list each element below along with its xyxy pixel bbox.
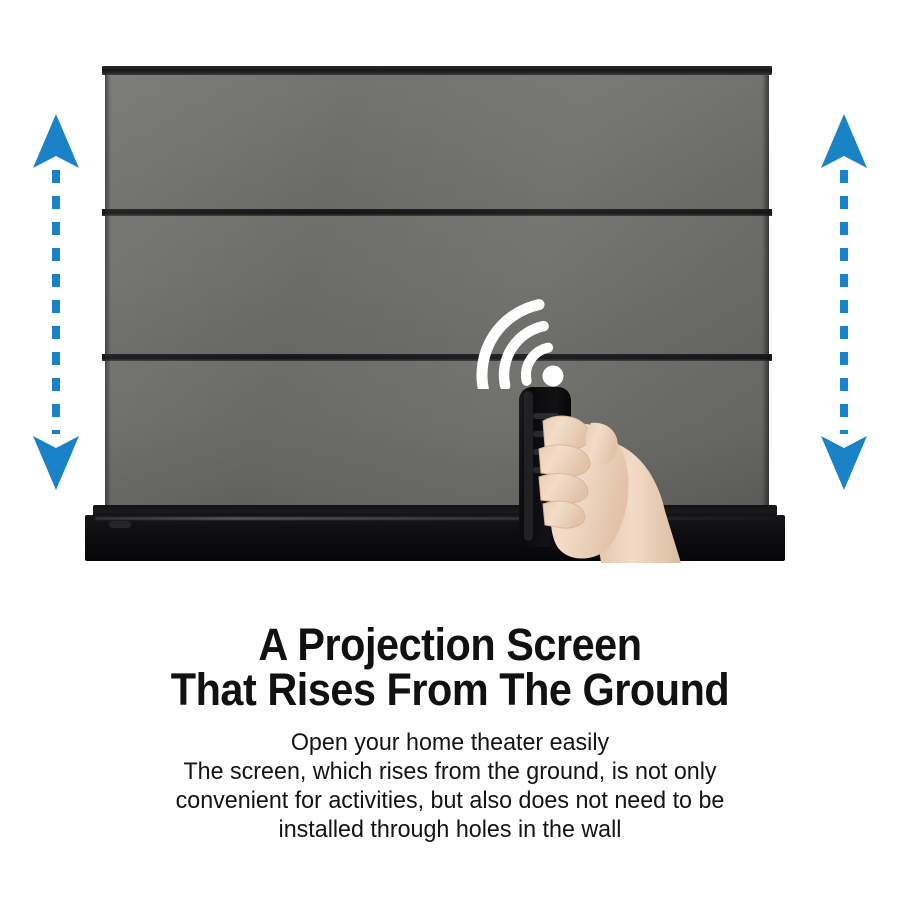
screen-right-edge	[762, 75, 769, 516]
screen-panel-face	[105, 75, 769, 212]
body-copy: Open your home theater easily The screen…	[14, 712, 887, 844]
screen-panel-top	[105, 75, 769, 212]
body-line-1: Open your home theater easily	[14, 728, 887, 757]
thumb	[586, 423, 618, 465]
screen-panel-middle	[105, 216, 769, 356]
marketing-copy: A Projection Screen That Rises From The …	[0, 600, 900, 844]
arrow-down-head	[821, 436, 867, 490]
arrow-down-head	[33, 436, 79, 490]
screen-left-edge	[105, 75, 111, 516]
screen-panel-face	[105, 216, 769, 356]
screen-top-rail	[102, 66, 772, 75]
headline: A Projection Screen That Rises From The …	[36, 600, 864, 712]
wireless-signal-icon	[476, 297, 580, 389]
body-line-3: convenient for activities, but also does…	[14, 786, 887, 815]
arrow-up-head	[33, 114, 79, 168]
body-line-2: The screen, which rises from the ground,…	[14, 757, 887, 786]
height-arrow-left	[26, 112, 86, 492]
fingers	[539, 416, 590, 528]
hand-holding-remote	[505, 383, 720, 563]
height-arrow-right	[814, 112, 874, 492]
body-line-4: installed through holes in the wall	[14, 815, 887, 844]
base-port	[109, 521, 131, 528]
product-photo	[0, 0, 900, 590]
screen-seam-1	[102, 209, 772, 216]
headline-line-2: That Rises From The Ground	[36, 667, 864, 712]
screen-seam-2	[102, 354, 772, 361]
headline-line-1: A Projection Screen	[36, 622, 864, 667]
arrow-up-head	[821, 114, 867, 168]
